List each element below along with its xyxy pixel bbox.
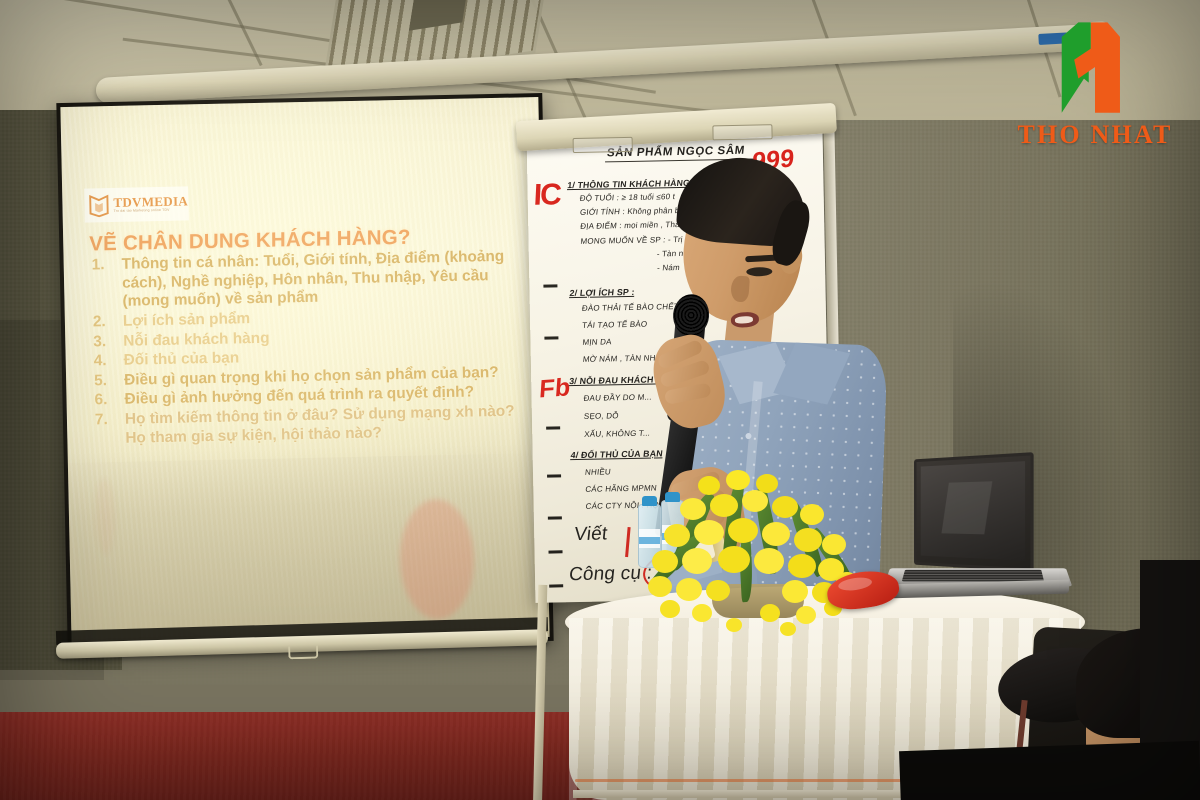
brand-watermark: THO NHAT (1010, 14, 1180, 150)
brand-name: THO NHAT (1010, 120, 1180, 150)
letter-n-logo-icon (1043, 14, 1147, 118)
photo-scene: TDVMEDIA Tro dai tao Marketing online TD… (0, 0, 1200, 800)
